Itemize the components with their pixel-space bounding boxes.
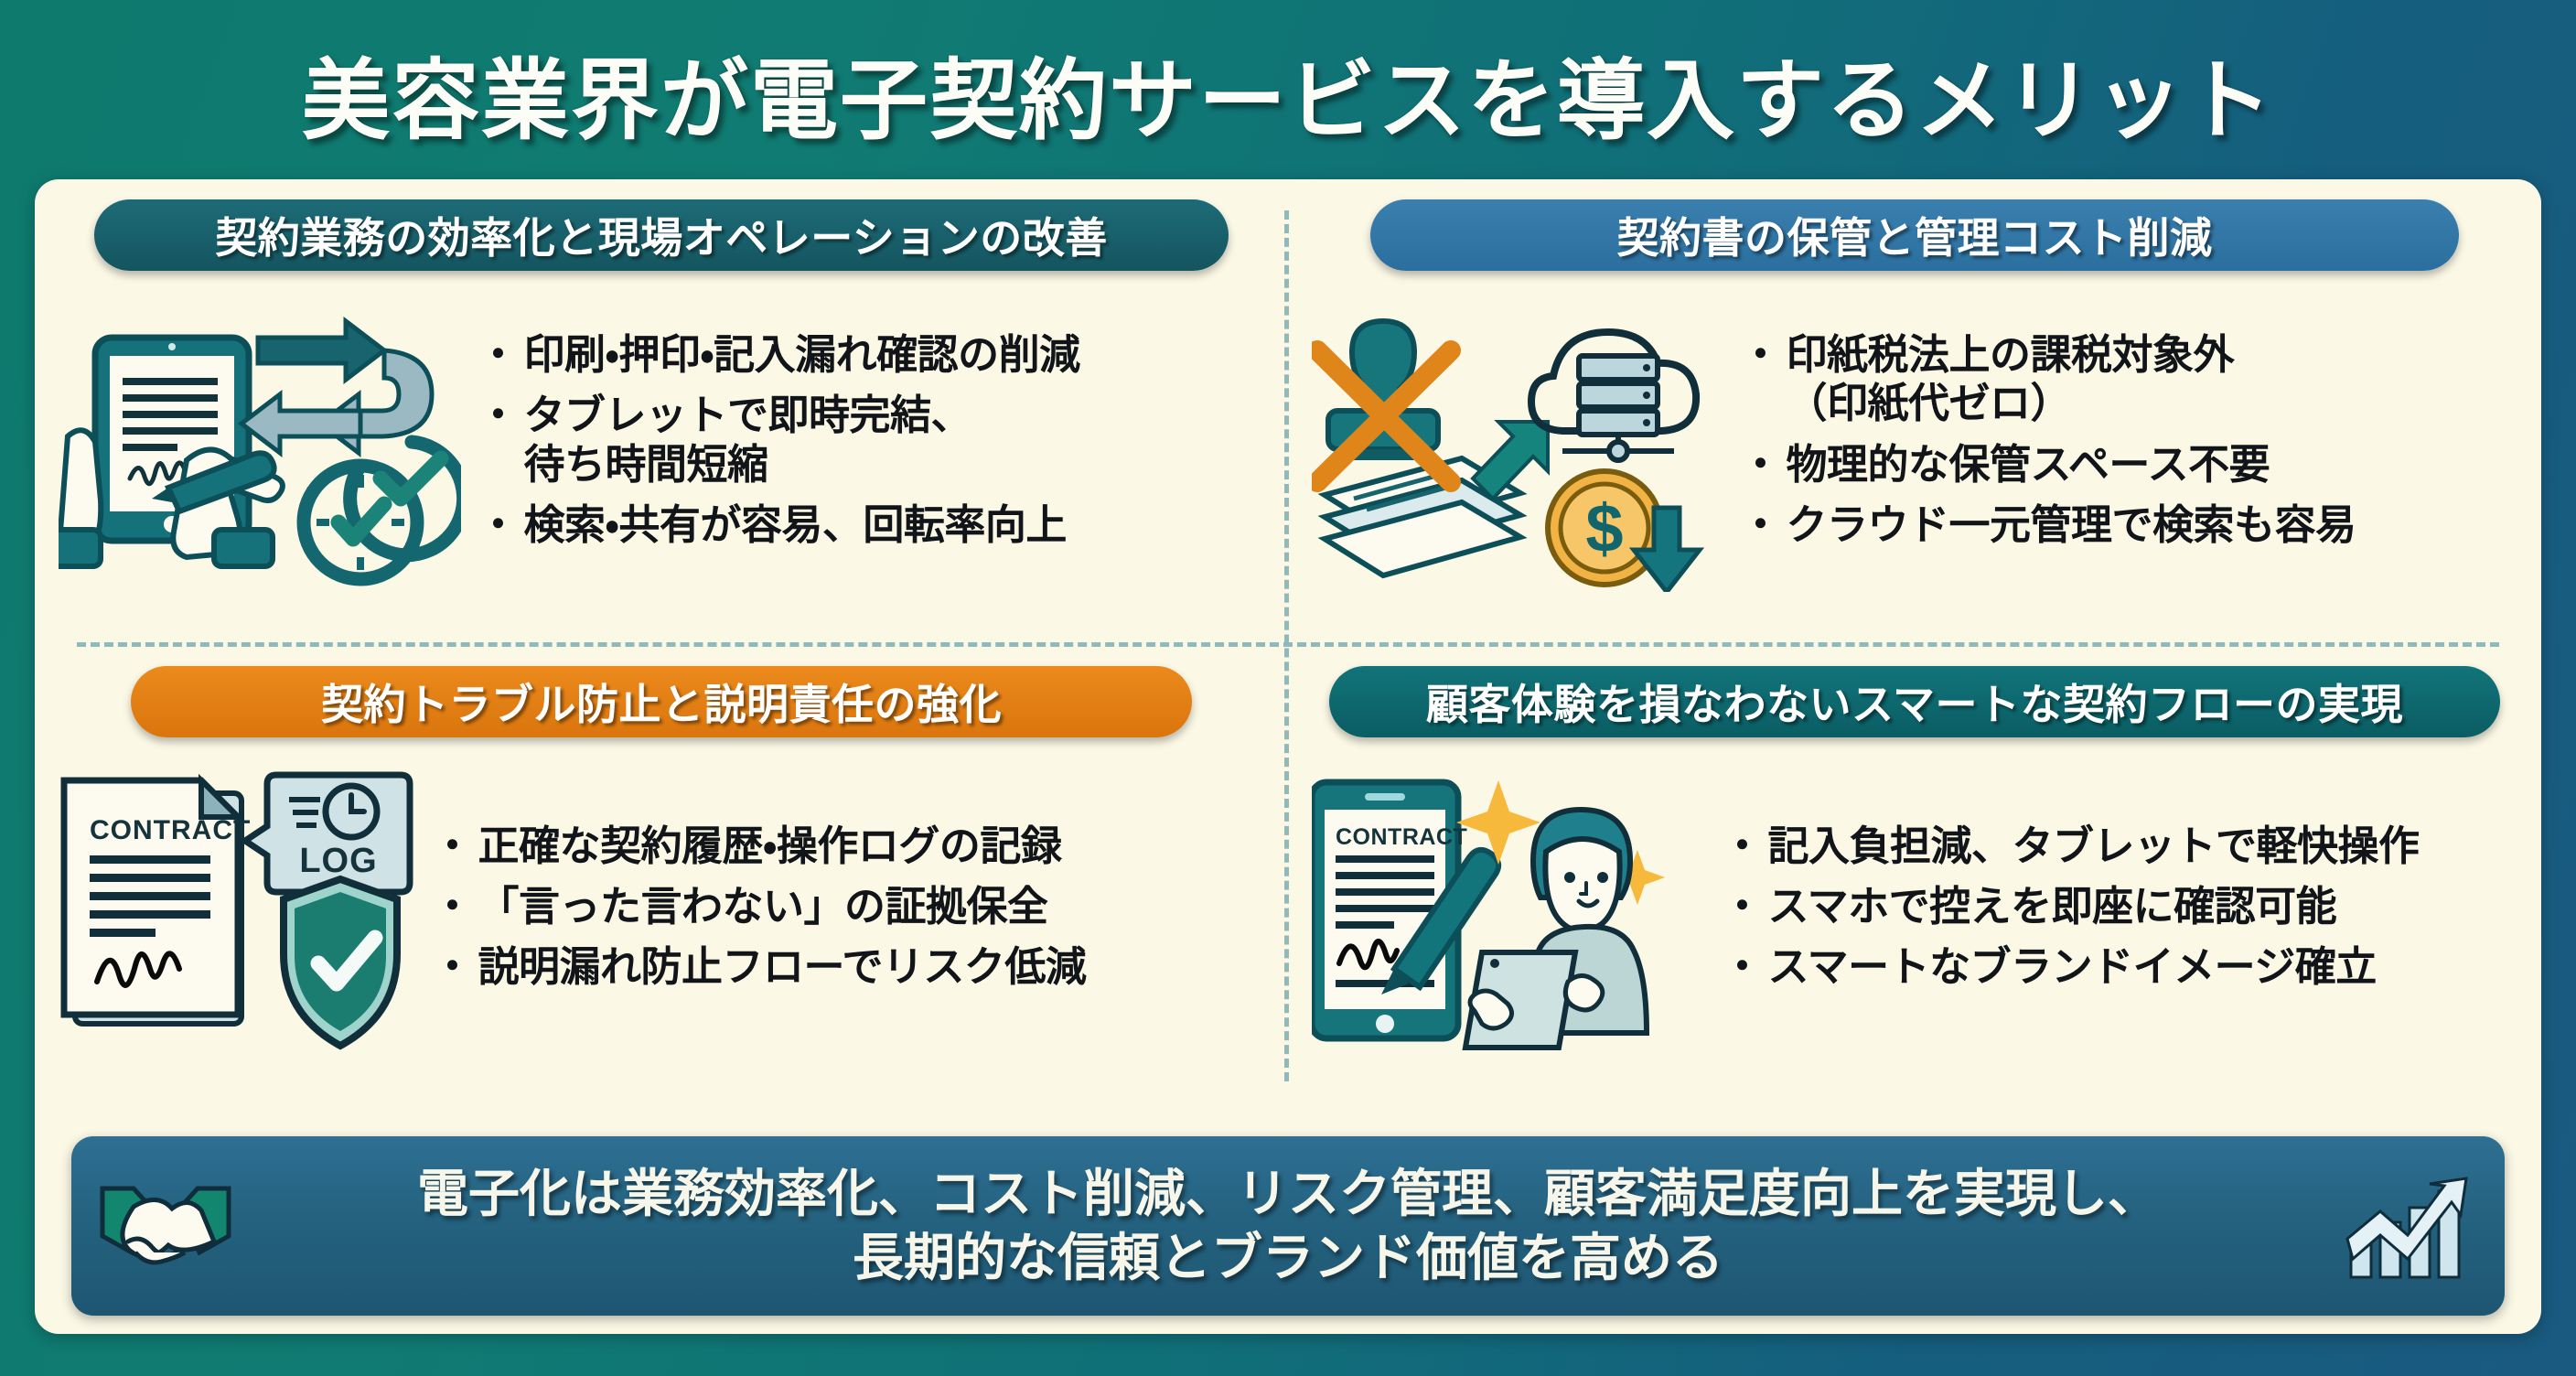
growth-chart-icon — [2342, 1171, 2479, 1281]
benefit-header-label: 契約トラブル防止と説明責任の強化 — [321, 672, 1002, 732]
bullet-text: 正確な契約履歴・操作ログの記録 — [478, 822, 1062, 870]
page-title: 美容業界が電子契約サービスを導入するメリット — [302, 29, 2274, 156]
stamp-crossed-cloud-coin-icon: $ — [1312, 299, 1723, 592]
bullet-marker: ・ — [1722, 942, 1763, 991]
benefit-body-customer-experience: CONTRACT — [1312, 761, 2517, 1063]
bullet-text: 記入負担減、タブレットで軽快操作 — [1768, 822, 2420, 870]
infographic-title-bar: 美容業界が電子契約サービスを導入するメリット — [0, 24, 2576, 161]
summary-text: 電子化は業務効率化、コスト削減、リスク管理、顧客満足度向上を実現し、 長期的な信… — [234, 1162, 2342, 1290]
tablet-signature-exchange-clock-icon — [59, 299, 461, 592]
bullet-text: 印紙税法上の課税対象外 （印紙代ゼロ） — [1787, 330, 2235, 427]
bullet-text: スマートなブランドイメージ確立 — [1768, 942, 2377, 991]
bullet-text: 説明漏れ防止フローでリスク低減 — [478, 942, 1087, 991]
list-item: ・ スマホで控えを即座に確認可能 — [1722, 882, 2517, 930]
benefit-header-label: 契約書の保管と管理コスト削減 — [1617, 205, 2213, 265]
bullet-marker: ・ — [478, 391, 519, 439]
benefit-bullets-trouble-prevention: ・ 正確な契約履歴・操作ログの記録 ・ 「言った言わない」の証拠保全 ・ 説明漏… — [432, 822, 1264, 1003]
svg-text:CONTRACT: CONTRACT — [90, 815, 251, 845]
benefit-body-efficiency: ・ 印刷・押印・記入漏れ確認の削減 ・ タブレットで即時完結、 待ち時間短縮 ・… — [59, 295, 1264, 597]
bullet-marker: ・ — [1740, 330, 1781, 379]
benefit-header-efficiency: 契約業務の効率化と現場オペレーションの改善 — [94, 199, 1229, 271]
list-item: ・ 正確な契約履歴・操作ログの記録 — [432, 822, 1264, 870]
bullet-text: スマホで控えを即座に確認可能 — [1768, 882, 2337, 930]
summary-banner: 電子化は業務効率化、コスト削減、リスク管理、顧客満足度向上を実現し、 長期的な信… — [71, 1136, 2505, 1316]
contract-log-shield-icon: CONTRACT LOG — [59, 766, 415, 1059]
handshake-icon — [97, 1176, 234, 1276]
list-item: ・ スマートなブランドイメージ確立 — [1722, 942, 2517, 991]
bullet-marker: ・ — [1740, 440, 1781, 489]
list-item: ・ 印刷・押印・記入漏れ確認の削減 — [478, 330, 1264, 379]
benefit-body-storage-cost: $ ・ 印紙税法上の課税対象外 （印紙代ゼロ） ・ 物理的な保管スペース不要 — [1312, 295, 2517, 597]
bullet-text: 物理的な保管スペース不要 — [1787, 440, 2270, 489]
list-item: ・ クラウド一元管理で検索も容易 — [1740, 500, 2517, 549]
list-item: ・ 印紙税法上の課税対象外 （印紙代ゼロ） — [1740, 330, 2517, 427]
benefit-card-storage-cost: 契約書の保管と管理コスト削減 — [1288, 179, 2541, 646]
bullet-marker: ・ — [1722, 882, 1763, 930]
list-item: ・ 検索・共有が容易、回転率向上 — [478, 500, 1264, 549]
bullet-text: 印刷・押印・記入漏れ確認の削減 — [524, 330, 1080, 379]
list-item: ・ 記入負担減、タブレットで軽快操作 — [1722, 822, 2517, 870]
benefit-header-label: 契約業務の効率化と現場オペレーションの改善 — [215, 205, 1108, 265]
svg-text:$: $ — [1585, 490, 1623, 566]
bullet-marker: ・ — [432, 942, 473, 991]
bullet-marker: ・ — [432, 822, 473, 870]
benefit-card-customer-experience: 顧客体験を損なわないスマートな契約フローの実現 CONTRACT — [1288, 646, 2541, 1113]
bullet-marker: ・ — [478, 500, 519, 549]
benefit-bullets-customer-experience: ・ 記入負担減、タブレットで軽快操作 ・ スマホで控えを即座に確認可能 ・ スマ… — [1722, 822, 2517, 1003]
benefits-grid: 契約業務の効率化と現場オペレーションの改善 — [35, 179, 2541, 1113]
bullet-marker: ・ — [1722, 822, 1763, 870]
benefit-body-trouble-prevention: CONTRACT LOG — [59, 761, 1264, 1063]
svg-text:CONTRACT: CONTRACT — [1336, 824, 1467, 850]
list-item: ・ 物理的な保管スペース不要 — [1740, 440, 2517, 489]
list-item: ・ 「言った言わない」の証拠保全 — [432, 882, 1264, 930]
benefit-header-storage-cost: 契約書の保管と管理コスト削減 — [1370, 199, 2459, 271]
bullet-text: タブレットで即時完結、 待ち時間短縮 — [524, 391, 972, 488]
bullet-text: クラウド一元管理で検索も容易 — [1787, 500, 2356, 549]
bullet-marker: ・ — [432, 882, 473, 930]
benefit-header-trouble-prevention: 契約トラブル防止と説明責任の強化 — [131, 666, 1192, 737]
bullet-text: 検索・共有が容易、回転率向上 — [524, 500, 1067, 549]
svg-text:LOG: LOG — [299, 842, 377, 880]
benefit-header-customer-experience: 顧客体験を損なわないスマートな契約フローの実現 — [1329, 666, 2500, 737]
bullet-text: 「言った言わない」の証拠保全 — [478, 882, 1048, 930]
bullet-marker: ・ — [478, 330, 519, 379]
benefit-bullets-storage-cost: ・ 印紙税法上の課税対象外 （印紙代ゼロ） ・ 物理的な保管スペース不要 ・ ク… — [1740, 330, 2517, 560]
list-item: ・ タブレットで即時完結、 待ち時間短縮 — [478, 391, 1264, 488]
bullet-marker: ・ — [1740, 500, 1781, 549]
benefit-header-label: 顧客体験を損なわないスマートな契約フローの実現 — [1426, 672, 2403, 732]
benefit-card-efficiency: 契約業務の効率化と現場オペレーションの改善 — [35, 179, 1288, 646]
list-item: ・ 説明漏れ防止フローでリスク低減 — [432, 942, 1264, 991]
content-panel: 契約業務の効率化と現場オペレーションの改善 — [35, 179, 2541, 1334]
tablet-contract-person-sparkle-icon: CONTRACT — [1312, 766, 1705, 1059]
benefit-bullets-efficiency: ・ 印刷・押印・記入漏れ確認の削減 ・ タブレットで即時完結、 待ち時間短縮 ・… — [478, 330, 1264, 560]
benefit-card-trouble-prevention: 契約トラブル防止と説明責任の強化 CONTRACT — [35, 646, 1288, 1113]
